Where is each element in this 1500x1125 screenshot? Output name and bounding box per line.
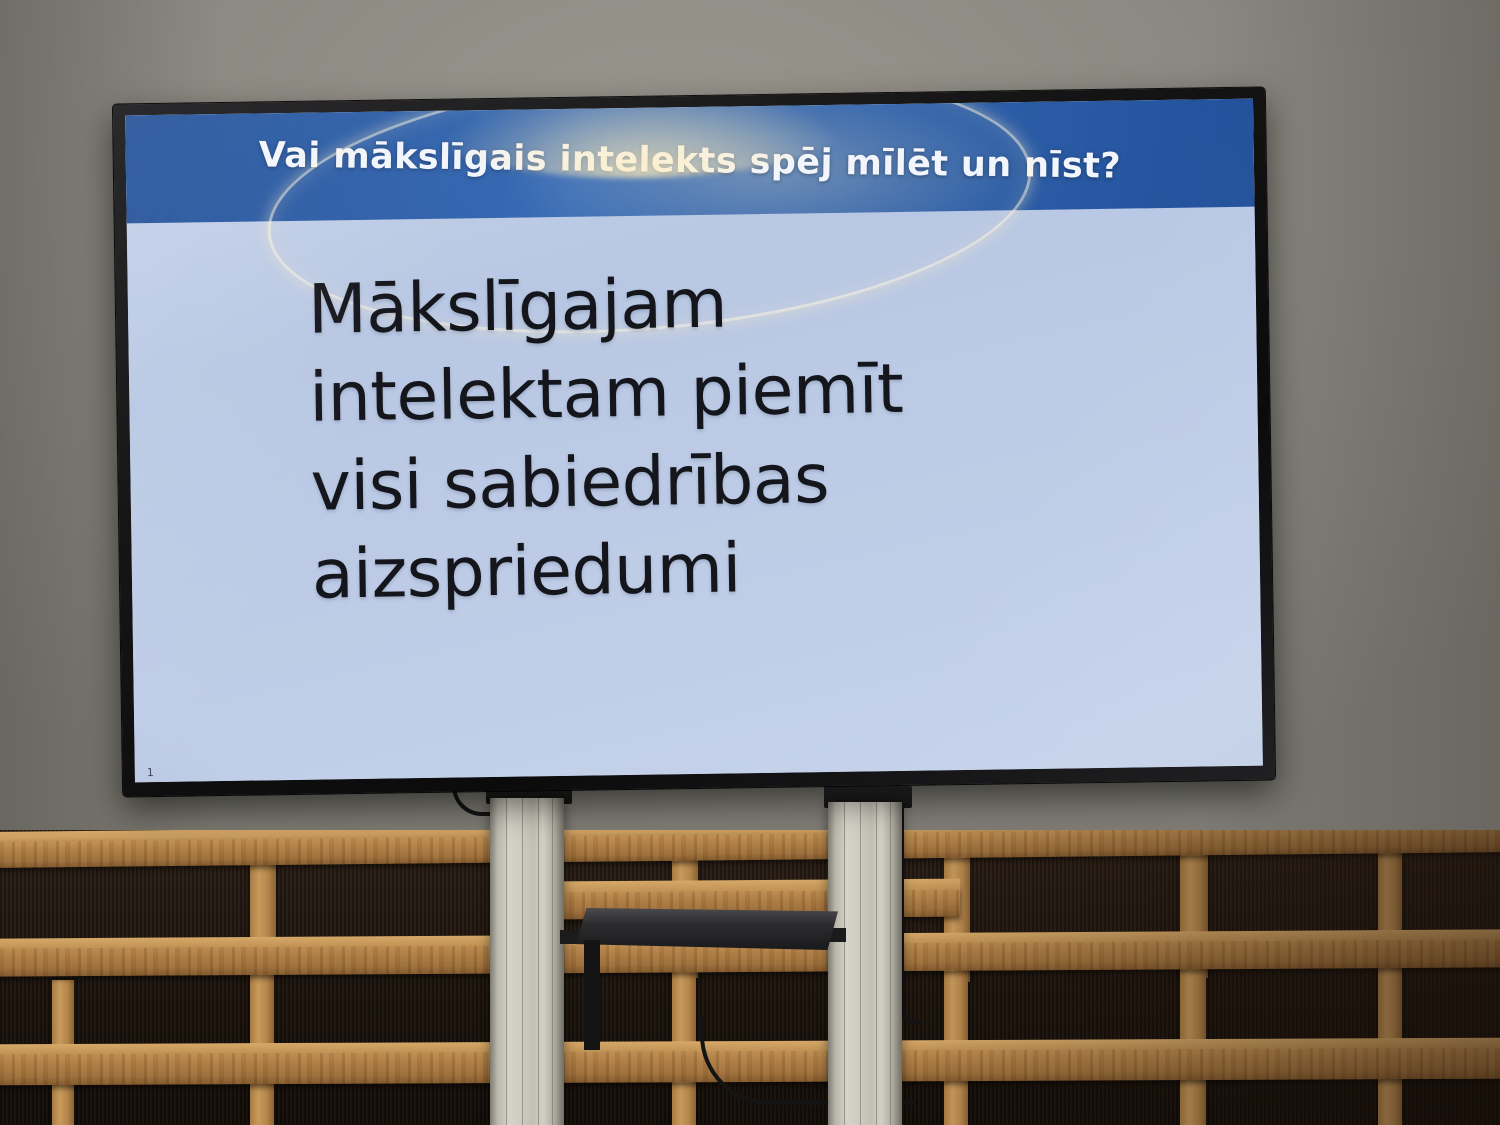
column-groove — [860, 802, 861, 1125]
wall-mounted-tv: Vai mākslīgais intelekts spēj mīlēt un n… — [113, 87, 1275, 796]
bench-post — [672, 950, 696, 1125]
bench-post — [1378, 850, 1402, 1125]
column-groove — [552, 798, 553, 1125]
column-groove — [876, 802, 877, 1125]
slide-body: Mākslīgajam intelektam piemīt visi sabie… — [127, 207, 1263, 783]
slide-title-banner: Vai mākslīgais intelekts spēj mīlēt un n… — [125, 99, 1254, 224]
tv-screen: Vai mākslīgais intelekts spēj mīlēt un n… — [125, 99, 1263, 783]
bench-post — [250, 950, 274, 1125]
column-groove — [844, 802, 845, 1125]
column-groove — [506, 798, 507, 1125]
mount-column-left — [490, 798, 564, 1125]
power-cable-right — [900, 788, 922, 1024]
slide-body-text: Mākslīgajam intelektam piemīt visi sabie… — [307, 254, 1170, 620]
slide-title-text: Vai mākslīgais intelekts spēj mīlēt un n… — [126, 134, 1254, 189]
slide-body-line-1: Mākslīgajam — [307, 254, 1166, 355]
column-groove — [890, 802, 891, 1125]
slide-body-line-2: intelektam piemīt — [309, 342, 1168, 443]
room-scene: Vai mākslīgais intelekts spēj mīlēt un n… — [0, 0, 1500, 1125]
column-groove — [538, 798, 539, 1125]
presentation-slide: Vai mākslīgais intelekts spēj mīlēt un n… — [125, 99, 1263, 783]
slide-body-line-3: visi sabiedrības — [310, 431, 1169, 532]
slide-number: 1 — [147, 766, 154, 779]
column-groove — [522, 798, 523, 1125]
slide-body-line-4: aizspriedumi — [311, 519, 1170, 620]
equipment-shelf — [576, 908, 838, 950]
shelf-support-post — [584, 940, 600, 1050]
tv-bezel: Vai mākslīgais intelekts spēj mīlēt un n… — [113, 87, 1275, 796]
mount-column-right — [828, 802, 902, 1125]
